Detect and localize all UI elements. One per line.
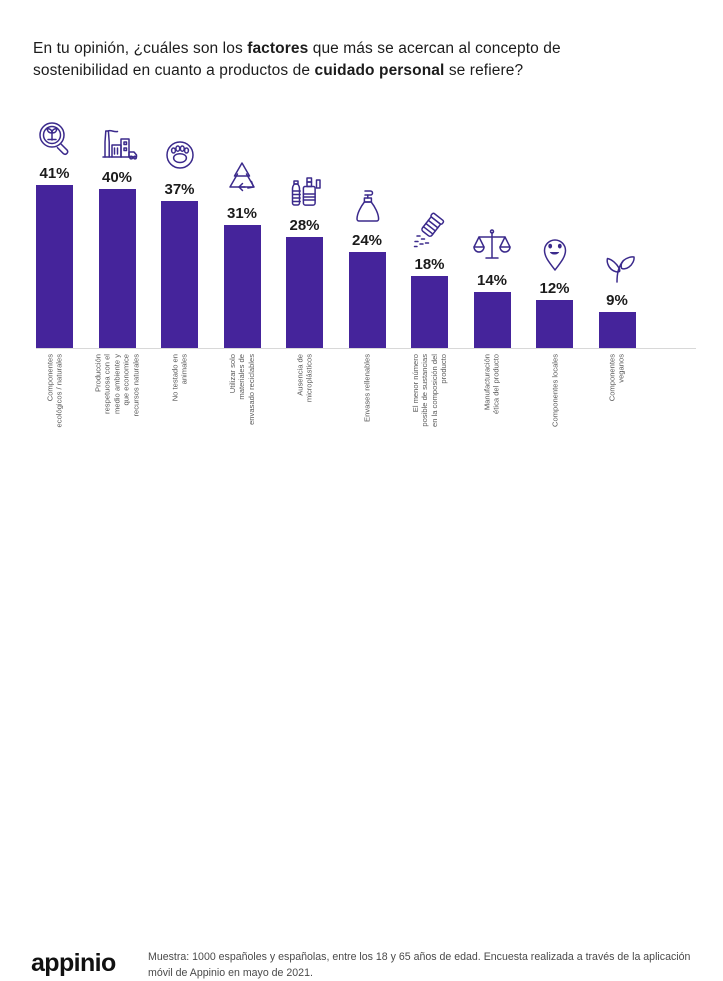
page-title: En tu opinión, ¿cuáles son los factores … [33, 38, 693, 82]
category-label-line: microplásticos [305, 354, 314, 402]
category-label-line: No testado en [170, 354, 179, 401]
magnifier-leaf-icon [33, 117, 77, 161]
appinio-logo: appinio [31, 949, 116, 978]
pump-bottle-icon [345, 184, 389, 228]
bar-column[interactable]: 14% [474, 100, 511, 348]
sprout-icon [595, 244, 639, 288]
bar-column[interactable]: 18% [411, 100, 448, 348]
map-pin-smile-icon [533, 232, 577, 276]
footer-note: Muestra: 1000 españoles y españolas, ent… [148, 949, 693, 981]
category-label: Producciónrespetuosa con elmedio ambient… [99, 354, 136, 459]
title-line-2: sostenibilidad en cuanto a productos de … [33, 60, 693, 82]
title-line-1-pre: En tu opinión, ¿cuáles son los [33, 40, 247, 57]
category-label: Envases rellenables [349, 354, 386, 459]
category-label-line: Componentes [608, 354, 617, 401]
bar[interactable] [474, 292, 511, 348]
bottles-icon [283, 169, 327, 213]
title-line-1: En tu opinión, ¿cuáles son los factores … [33, 38, 693, 60]
title-line-2-bold: cuidado personal [314, 62, 444, 79]
title-line-2-pre: sostenibilidad en cuanto a productos de [33, 62, 314, 79]
bar[interactable] [161, 201, 198, 348]
category-label-line: Componentes locales [550, 354, 559, 427]
category-label-line: en la composición del [430, 354, 439, 427]
category-label-line: que economice [122, 354, 131, 416]
bar[interactable] [536, 300, 573, 348]
title-line-2-post: se refiere? [444, 62, 523, 79]
category-label: Utilizar solomateriales deenvasado recic… [224, 354, 261, 459]
category-label-line: Envases rellenables [362, 354, 371, 422]
category-label-line: producto [439, 354, 448, 427]
category-label-line: animales [180, 354, 189, 401]
category-label-line: posible de sustancias [420, 354, 429, 427]
bar[interactable] [224, 225, 261, 348]
category-label: El menor númeroposible de sustanciasen l… [411, 354, 448, 459]
bar[interactable] [286, 237, 323, 348]
chart-baseline [36, 348, 696, 349]
bar-value-label: 18% [414, 256, 444, 273]
category-label-line: veganos [617, 354, 626, 401]
bar-column[interactable]: 31% [224, 100, 261, 348]
bar-column[interactable]: 41% [36, 100, 73, 348]
bar[interactable] [599, 312, 636, 348]
infographic-root: En tu opinión, ¿cuáles son los factores … [0, 0, 723, 531]
bar-column[interactable]: 9% [599, 100, 636, 348]
category-label-line: Manufacturación [483, 354, 492, 414]
bar[interactable] [36, 185, 73, 348]
category-label-line: recursos naturales [131, 354, 140, 416]
recycle-icon [220, 157, 264, 201]
bar[interactable] [99, 189, 136, 348]
footer: appinio Muestra: 1000 españoles y españo… [0, 468, 723, 531]
category-label: No testado enanimales [161, 354, 198, 459]
bar-value-label: 24% [352, 232, 382, 249]
chart-plot-area: 41%40%37%31%28%24%18%14%12%9% [36, 100, 696, 348]
bar-value-label: 12% [539, 280, 569, 297]
category-label: Componentes locales [536, 354, 573, 459]
bar[interactable] [349, 252, 386, 348]
category-label-line: envasado reciclables [247, 354, 256, 425]
category-label: Componentesveganos [599, 354, 636, 459]
shaker-icon [408, 208, 452, 252]
bar-value-label: 14% [477, 272, 507, 289]
category-label-line: medio ambiente y [112, 354, 121, 416]
bar-column[interactable]: 12% [536, 100, 573, 348]
title-line-1-bold: factores [247, 40, 308, 57]
bar-value-label: 31% [227, 205, 257, 222]
bar-value-label: 9% [606, 292, 628, 309]
scales-icon [470, 224, 514, 268]
title-line-1-post: que más se acercan al concepto de [308, 40, 560, 57]
category-label: Ausencia demicroplásticos [286, 354, 323, 459]
bar-column[interactable]: 40% [99, 100, 136, 348]
category-label: Manufacturaciónética del producto [474, 354, 511, 459]
paw-circle-icon [158, 133, 202, 177]
category-label: Componentesecológicos / naturales [36, 354, 73, 459]
category-label-line: ecológicos / naturales [55, 354, 64, 427]
bar[interactable] [411, 276, 448, 348]
bar-value-label: 28% [289, 217, 319, 234]
category-label-line: El menor número [411, 354, 420, 427]
bar-column[interactable]: 37% [161, 100, 198, 348]
category-label-line: Componentes [45, 354, 54, 427]
bar-value-label: 40% [102, 169, 132, 186]
bar-column[interactable]: 28% [286, 100, 323, 348]
category-label-line: Ausencia de [295, 354, 304, 402]
category-label-line: Utilizar solo [228, 354, 237, 425]
bar-value-label: 41% [39, 165, 69, 182]
category-label-line: respetuosa con el [103, 354, 112, 416]
factory-icon [95, 121, 139, 165]
category-label-line: materiales de [237, 354, 246, 425]
bar-column[interactable]: 24% [349, 100, 386, 348]
bar-value-label: 37% [164, 181, 194, 198]
category-label-line: ética del producto [492, 354, 501, 414]
category-label-line: Producción [93, 354, 102, 416]
